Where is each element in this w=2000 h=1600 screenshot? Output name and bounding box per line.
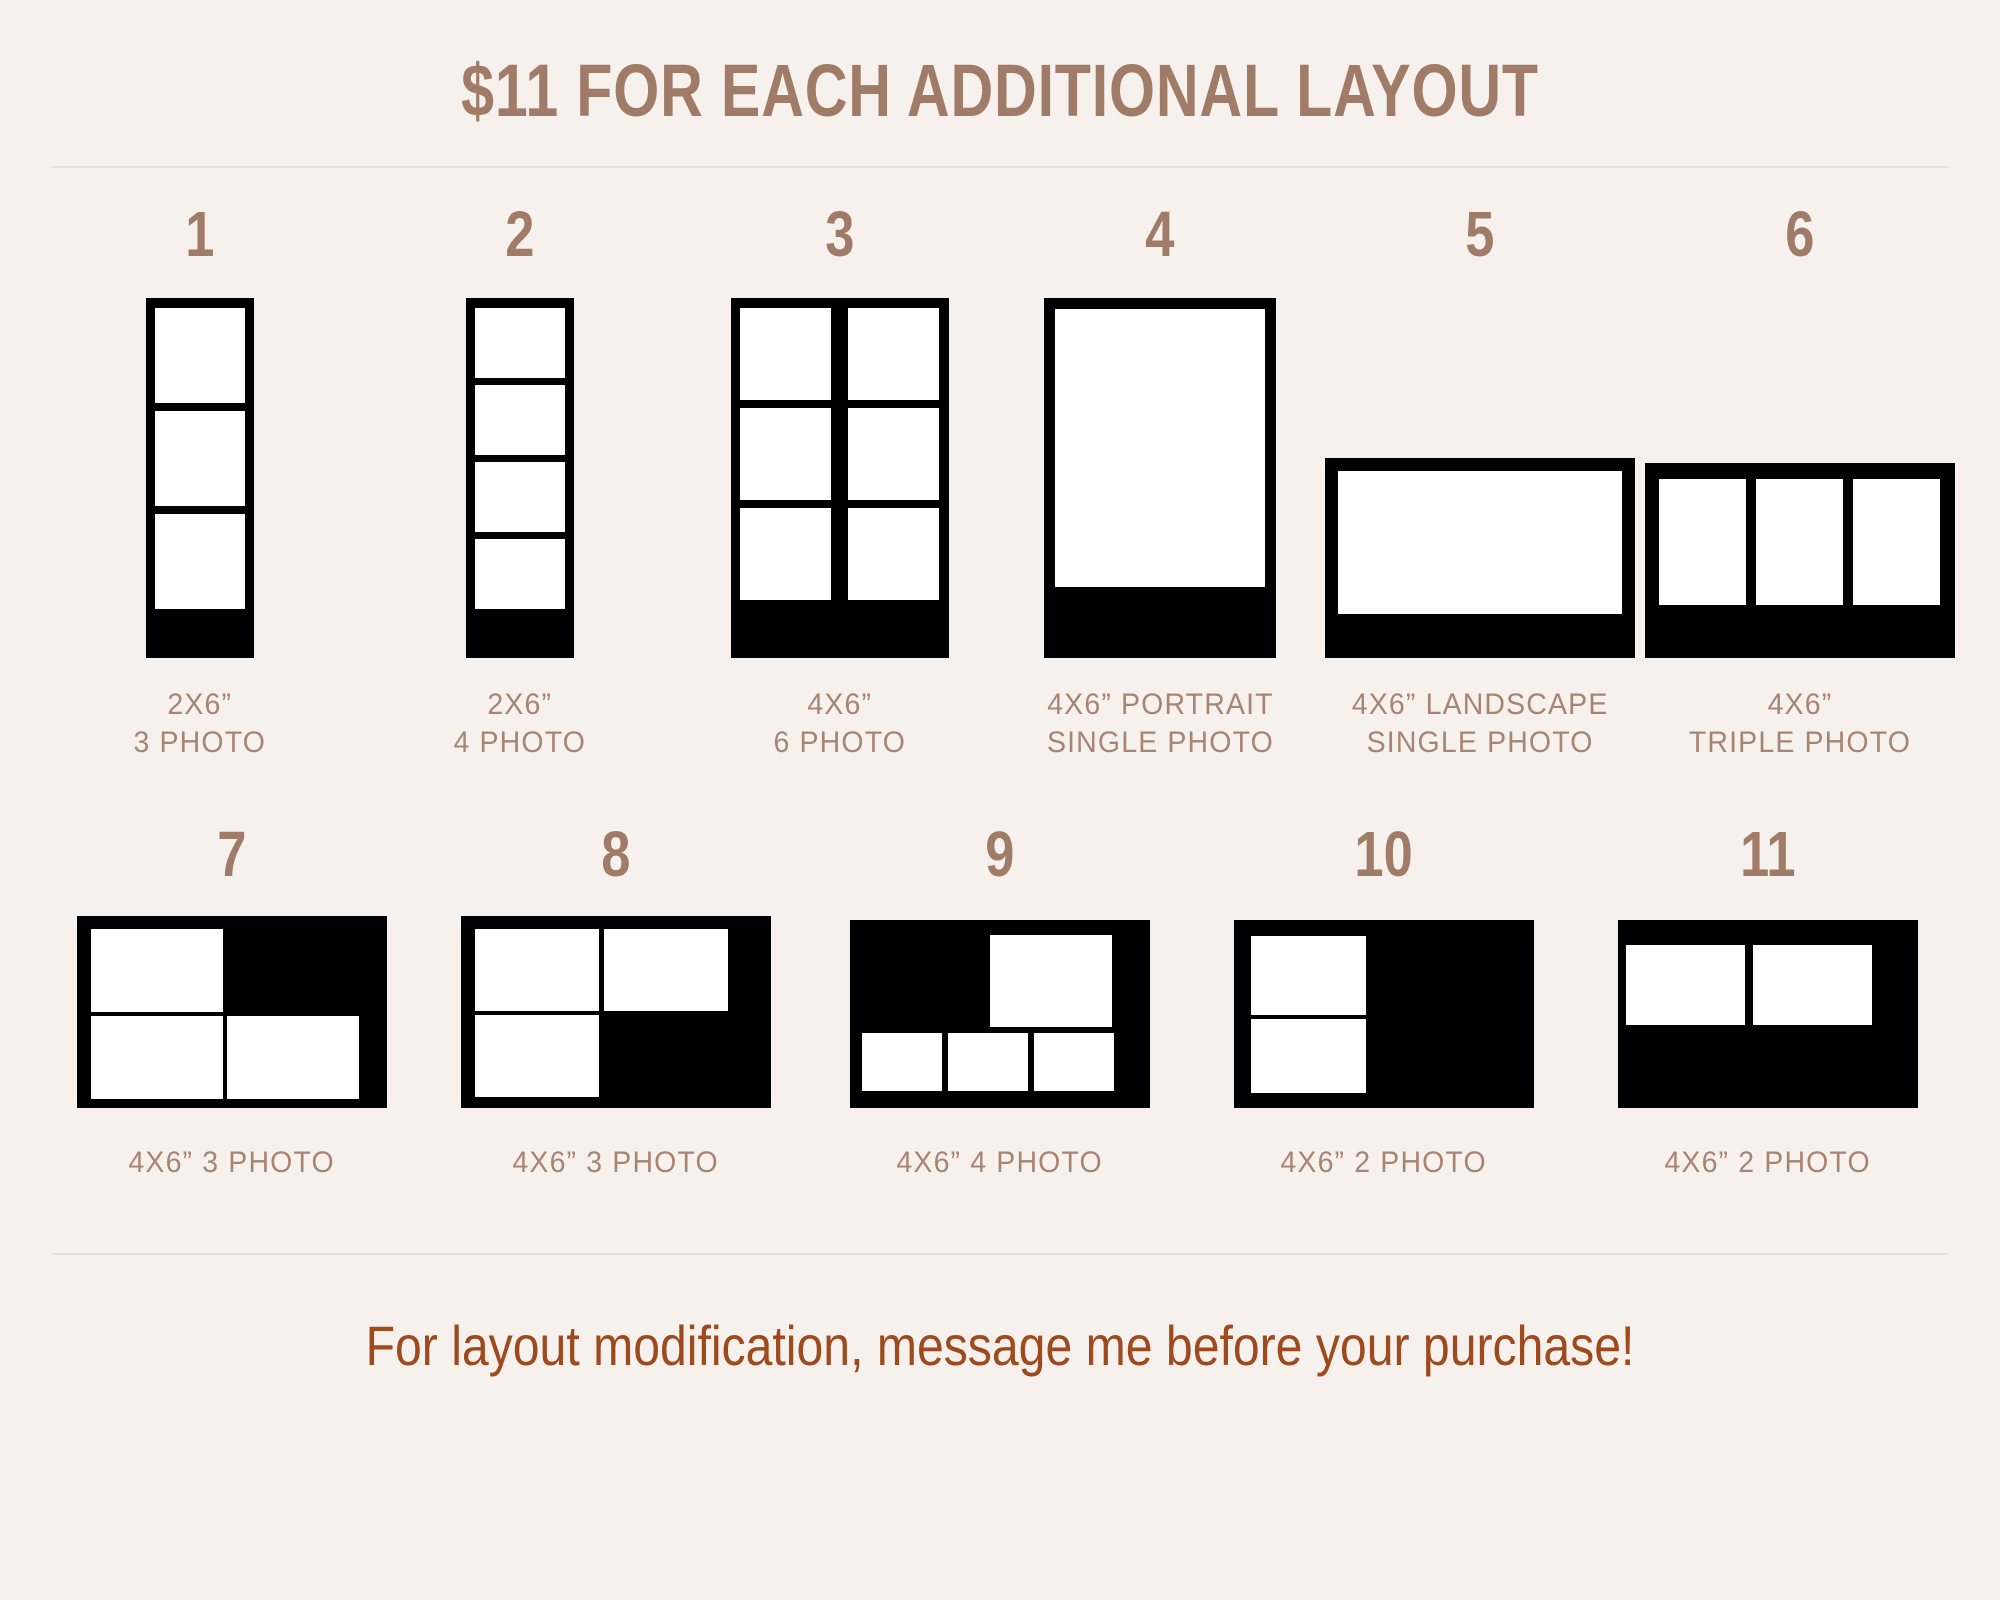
- layout-thumbnail-slot: [1234, 908, 1534, 1108]
- layout-card-4[interactable]: 4 4X6” PORTRAIT SINGLE PHOTO: [1035, 202, 1285, 763]
- photo-cell: [1251, 936, 1366, 1015]
- photo-cell: [740, 508, 831, 600]
- photo-cell: [1756, 479, 1843, 605]
- layout-thumbnail-slot: [1618, 908, 1918, 1108]
- layout-thumbnail-4x6-6photo: [731, 298, 949, 658]
- layout-number: 9: [985, 822, 1014, 886]
- photo-cell: [475, 539, 565, 609]
- photo-cell: [604, 929, 728, 1011]
- layout-caption: 4X6” LANDSCAPE SINGLE PHOTO: [1352, 686, 1609, 763]
- photo-cell: [990, 935, 1112, 1027]
- layout-card-6[interactable]: 6 4X6” TRIPLE PHOTO: [1675, 202, 1925, 763]
- photo-cell: [155, 411, 245, 506]
- layout-caption: 2X6” 3 PHOTO: [134, 686, 267, 763]
- caption-line-2: 6 PHOTO: [774, 726, 907, 759]
- layout-grid-row-1: 1 2X6” 3 PHOTO 2: [0, 202, 2000, 763]
- layout-caption: 4X6” PORTRAIT SINGLE PHOTO: [1047, 686, 1274, 763]
- layout-number: 5: [1465, 202, 1494, 266]
- layout-number: 1: [185, 202, 214, 266]
- divider-top: [52, 166, 1948, 168]
- layout-thumbnail-slot: [1325, 288, 1635, 658]
- photo-cell: [1251, 1019, 1366, 1093]
- layout-caption: 4X6” 2 PHOTO: [1665, 1144, 1871, 1182]
- layout-caption: 4X6” 3 PHOTO: [513, 1144, 719, 1182]
- layout-grid-row-2: 7 4X6” 3 PHOTO 8: [0, 822, 2000, 1182]
- caption-line-1: 2X6”: [168, 688, 233, 721]
- layout-caption: 4X6” 4 PHOTO: [897, 1144, 1103, 1182]
- photo-cell: [1626, 945, 1745, 1025]
- caption-line-1: 2X6”: [488, 688, 553, 721]
- photo-cell: [475, 929, 599, 1011]
- layout-thumbnail-4x6-landscape-single: [1325, 458, 1635, 658]
- layout-number: 11: [1740, 822, 1795, 886]
- photo-cell: [155, 308, 245, 403]
- photo-cell: [475, 462, 565, 532]
- photo-cell: [475, 1015, 599, 1097]
- photo-cell: [862, 1033, 942, 1091]
- layout-caption: 4X6” TRIPLE PHOTO: [1689, 686, 1911, 763]
- layout-caption: 4X6” 6 PHOTO: [774, 686, 907, 763]
- photo-cell: [740, 408, 831, 500]
- layout-caption: 2X6” 4 PHOTO: [454, 686, 587, 763]
- photo-cell: [155, 514, 245, 609]
- layout-card-7[interactable]: 7 4X6” 3 PHOTO: [107, 822, 357, 1182]
- layout-thumbnail-slot: [146, 288, 254, 658]
- page-title: $11 FOR EACH ADDITIONAL LAYOUT: [200, 0, 1800, 130]
- layout-thumbnail-4x6-4photo: [850, 920, 1150, 1108]
- caption-line-1: 4X6”: [1768, 688, 1833, 721]
- layout-price-poster: $11 FOR EACH ADDITIONAL LAYOUT 1 2X6” 3 …: [0, 0, 2000, 1600]
- photo-cell: [227, 1016, 359, 1099]
- layout-thumbnail-4x6-3photo-a: [77, 916, 387, 1108]
- layout-thumbnail-slot: [731, 288, 949, 658]
- photo-cell: [848, 508, 939, 600]
- layout-caption: 4X6” 3 PHOTO: [129, 1144, 335, 1182]
- layout-number: 2: [505, 202, 534, 266]
- layout-thumbnail-4x6-triple: [1645, 463, 1955, 658]
- photo-cell: [848, 308, 939, 400]
- photo-cell: [1034, 1033, 1114, 1091]
- caption-line-2: SINGLE PHOTO: [1367, 726, 1594, 759]
- caption-line-2: TRIPLE PHOTO: [1689, 726, 1911, 759]
- photo-cell: [740, 308, 831, 400]
- layout-card-2[interactable]: 2 2X6” 4 PHOTO: [395, 202, 645, 763]
- layout-thumbnail-slot: [77, 908, 387, 1108]
- layout-card-9[interactable]: 9 4X6” 4 PHOTO: [875, 822, 1125, 1182]
- layout-card-11[interactable]: 11 4X6” 2 PHOTO: [1643, 822, 1893, 1182]
- layout-number: 4: [1145, 202, 1174, 266]
- layout-number: 3: [825, 202, 854, 266]
- layout-thumbnail-slot: [1645, 288, 1955, 658]
- caption-line-1: 4X6” PORTRAIT: [1047, 688, 1274, 721]
- layout-thumbnail-4x6-portrait-single: [1044, 298, 1276, 658]
- layout-card-10[interactable]: 10 4X6” 2 PHOTO: [1259, 822, 1509, 1182]
- layout-thumbnail-slot: [850, 908, 1150, 1108]
- layout-card-3[interactable]: 3 4X6” 6 PHOTO: [715, 202, 965, 763]
- caption-line-1: 4X6” LANDSCAPE: [1352, 688, 1609, 721]
- photo-cell: [1055, 309, 1265, 587]
- layout-thumbnail-slot: [1044, 288, 1276, 658]
- layout-thumbnail-4x6-3photo-b: [461, 916, 771, 1108]
- photo-cell: [948, 1033, 1028, 1091]
- layout-number: 8: [601, 822, 630, 886]
- layout-thumbnail-2x6-3photo: [146, 298, 254, 658]
- photo-cell: [475, 385, 565, 455]
- layout-thumbnail-2x6-4photo: [466, 298, 574, 658]
- layout-thumbnail-slot: [461, 908, 771, 1108]
- layout-thumbnail-4x6-2photo-b: [1618, 920, 1918, 1108]
- photo-cell: [1753, 945, 1872, 1025]
- photo-cell: [1338, 471, 1622, 614]
- caption-line-2: SINGLE PHOTO: [1047, 726, 1274, 759]
- layout-thumbnail-slot: [466, 288, 574, 658]
- photo-cell: [475, 308, 565, 378]
- photo-cell: [91, 929, 223, 1012]
- caption-line-2: 3 PHOTO: [134, 726, 267, 759]
- photo-cell: [1659, 479, 1746, 605]
- photo-cell: [848, 408, 939, 500]
- layout-card-8[interactable]: 8 4X6” 3 PHOTO: [491, 822, 741, 1182]
- photo-cell: [1853, 479, 1940, 605]
- divider-bottom: [52, 1253, 1948, 1255]
- caption-line-2: 4 PHOTO: [454, 726, 587, 759]
- layout-number: 7: [217, 822, 246, 886]
- footer-message: For layout modification, message me befo…: [140, 1313, 1860, 1378]
- layout-number: 10: [1355, 822, 1413, 886]
- layout-card-1[interactable]: 1 2X6” 3 PHOTO: [75, 202, 325, 763]
- layout-number: 6: [1785, 202, 1814, 266]
- layout-caption: 4X6” 2 PHOTO: [1281, 1144, 1487, 1182]
- photo-cell: [91, 1016, 223, 1099]
- layout-thumbnail-4x6-2photo-a: [1234, 920, 1534, 1108]
- caption-line-1: 4X6”: [808, 688, 873, 721]
- layout-card-5[interactable]: 5 4X6” LANDSCAPE SINGLE PHOTO: [1355, 202, 1605, 763]
